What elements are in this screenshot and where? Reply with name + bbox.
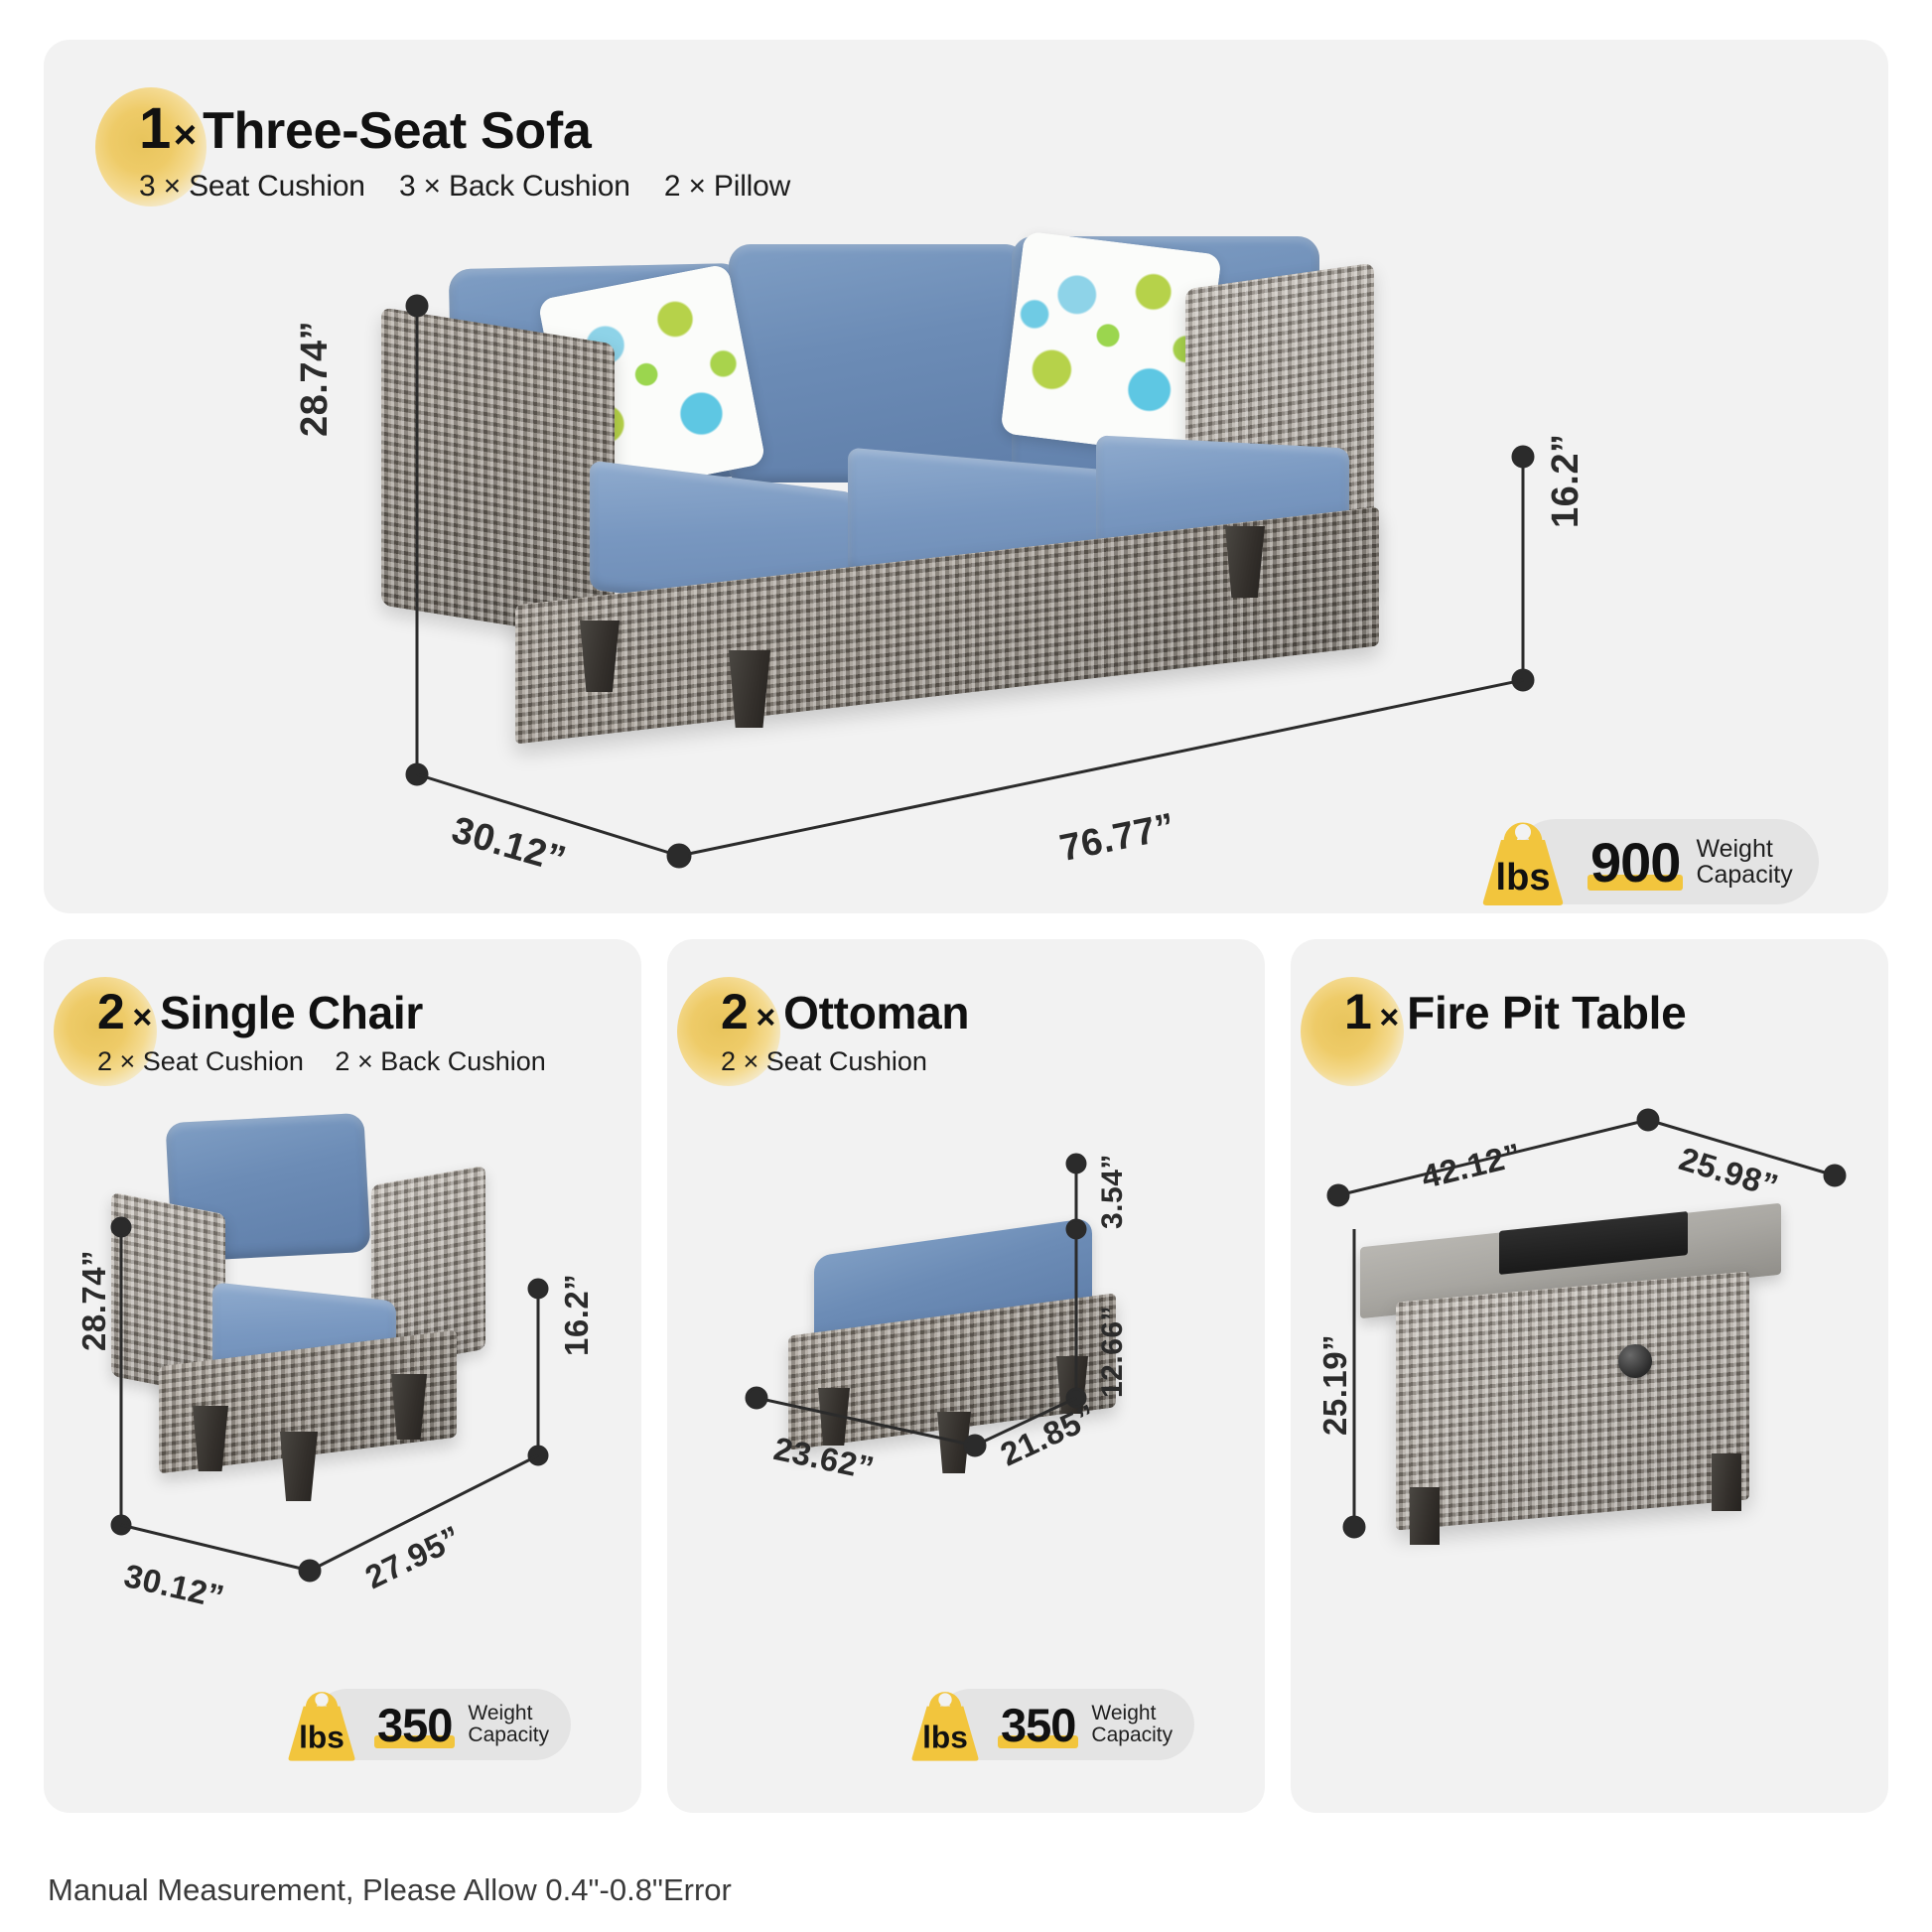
sofa-leg-back-center (729, 650, 770, 728)
sofa-back-cushion-center (729, 244, 1027, 483)
weight-number-wrap: 350 (1001, 1698, 1075, 1752)
sofa-includes: 3 × Seat Cushion 3 × Back Cushion 2 × Pi… (139, 170, 790, 204)
sofa-dim-seat-height: 16.2” (1545, 434, 1587, 528)
chair-heading: 2 × Single Chair 2 × Seat Cushion 2 × Ba… (97, 983, 546, 1077)
chair-include-0: 2 × Seat Cushion (97, 1046, 304, 1077)
ottoman-name: Ottoman (783, 986, 969, 1039)
chair-include-1: 2 × Back Cushion (335, 1046, 545, 1077)
chair-weight-value: 350 (377, 1698, 452, 1752)
card-ottoman: 2 × Ottoman 2 × Seat Cushion (667, 939, 1265, 1813)
card-single-chair: 2 × Single Chair 2 × Seat Cushion 2 × Ba… (44, 939, 641, 1813)
weight-number-wrap: 350 (377, 1698, 452, 1752)
ottoman-include-0: 2 × Seat Cushion (721, 1046, 927, 1077)
sofa-name: Three-Seat Sofa (203, 101, 591, 161)
chair-illustration (121, 1118, 538, 1545)
svg-text:lbs: lbs (922, 1719, 968, 1754)
product-dimensions-infographic: 1 × Three-Seat Sofa 3 × Seat Cushion 3 ×… (0, 0, 1932, 1932)
secondary-cards-row: 2 × Single Chair 2 × Seat Cushion 2 × Ba… (44, 939, 1888, 1813)
card-fire-pit-table: 1 × Fire Pit Table (1291, 939, 1888, 1813)
multiply-icon: × (1379, 999, 1399, 1037)
chair-dim-depth: 30.12” (120, 1557, 227, 1616)
sofa-include-1: 3 × Back Cushion (399, 170, 630, 204)
sofa-dim-height: 28.74” (294, 321, 337, 437)
ottoman-leg-center (937, 1412, 971, 1473)
sofa-title: 1 × Three-Seat Sofa (139, 95, 790, 162)
firepit-control-knob (1618, 1344, 1652, 1378)
multiply-icon: × (132, 999, 152, 1037)
chair-qty: 2 (97, 983, 124, 1040)
sofa-arm-left (381, 307, 615, 641)
ottoman-weight-value: 350 (1001, 1698, 1075, 1752)
weight-capacity-line2: Capacity (1091, 1725, 1173, 1746)
card-three-seat-sofa: 1 × Three-Seat Sofa 3 × Seat Cushion 3 ×… (44, 40, 1888, 913)
weight-icon: lbs (905, 1686, 985, 1763)
ottoman-heading: 2 × Ottoman 2 × Seat Cushion (721, 983, 969, 1077)
weight-capacity-line2: Capacity (468, 1725, 549, 1746)
multiply-icon: × (174, 113, 197, 158)
ottoman-dim-base-height: 12.66” (1096, 1306, 1130, 1398)
chair-includes: 2 × Seat Cushion 2 × Back Cushion (97, 1046, 546, 1077)
firepit-dim-height: 25.19” (1316, 1334, 1354, 1436)
measurement-disclaimer: Manual Measurement, Please Allow 0.4"-0.… (48, 1872, 732, 1908)
ottoman-title: 2 × Ottoman (721, 983, 969, 1040)
multiply-icon: × (756, 999, 775, 1037)
chair-leg-back (280, 1432, 318, 1501)
weight-capacity-line1: Weight (1091, 1703, 1173, 1725)
weight-capacity-line1: Weight (1696, 836, 1792, 862)
weight-capacity-label: Weight Capacity (468, 1703, 549, 1746)
sofa-qty: 1 (139, 95, 171, 162)
ottoman-includes: 2 × Seat Cushion (721, 1046, 969, 1077)
chair-dim-seat-height: 16.2” (558, 1274, 596, 1356)
sofa-include-2: 2 × Pillow (664, 170, 790, 204)
chair-weight-badge: lbs 350 Weight Capacity (282, 1686, 571, 1763)
sofa-weight-badge: lbs 900 Weight Capacity (1475, 816, 1819, 907)
chair-dim-height: 28.74” (75, 1250, 113, 1351)
weight-capacity-line2: Capacity (1696, 862, 1792, 888)
svg-text:lbs: lbs (299, 1719, 345, 1754)
sofa-illustration (431, 228, 1553, 844)
ottoman-weight-badge: lbs 350 Weight Capacity (905, 1686, 1194, 1763)
sofa-heading: 1 × Three-Seat Sofa 3 × Seat Cushion 3 ×… (139, 95, 790, 204)
firepit-illustration (1352, 1168, 1819, 1624)
weight-icon: lbs (1475, 816, 1571, 907)
firepit-leg-left (1410, 1487, 1440, 1545)
weight-capacity-label: Weight Capacity (1091, 1703, 1173, 1746)
weight-number-wrap: 900 (1590, 830, 1680, 895)
svg-text:lbs: lbs (1496, 857, 1551, 898)
firepit-leg-right (1712, 1453, 1741, 1511)
firepit-title: 1 × Fire Pit Table (1344, 983, 1686, 1040)
weight-capacity-line1: Weight (468, 1703, 549, 1725)
chair-name: Single Chair (160, 986, 423, 1039)
weight-capacity-label: Weight Capacity (1696, 836, 1792, 889)
chair-title: 2 × Single Chair (97, 983, 546, 1040)
ottoman-dim-cushion-height: 3.54” (1096, 1154, 1130, 1229)
weight-icon: lbs (282, 1686, 361, 1763)
sofa-weight-value: 900 (1590, 830, 1680, 895)
firepit-body (1396, 1271, 1749, 1530)
firepit-name: Fire Pit Table (1407, 986, 1686, 1039)
firepit-qty: 1 (1344, 983, 1371, 1040)
sofa-include-0: 3 × Seat Cushion (139, 170, 365, 204)
firepit-heading: 1 × Fire Pit Table (1344, 983, 1686, 1040)
ottoman-qty: 2 (721, 983, 748, 1040)
